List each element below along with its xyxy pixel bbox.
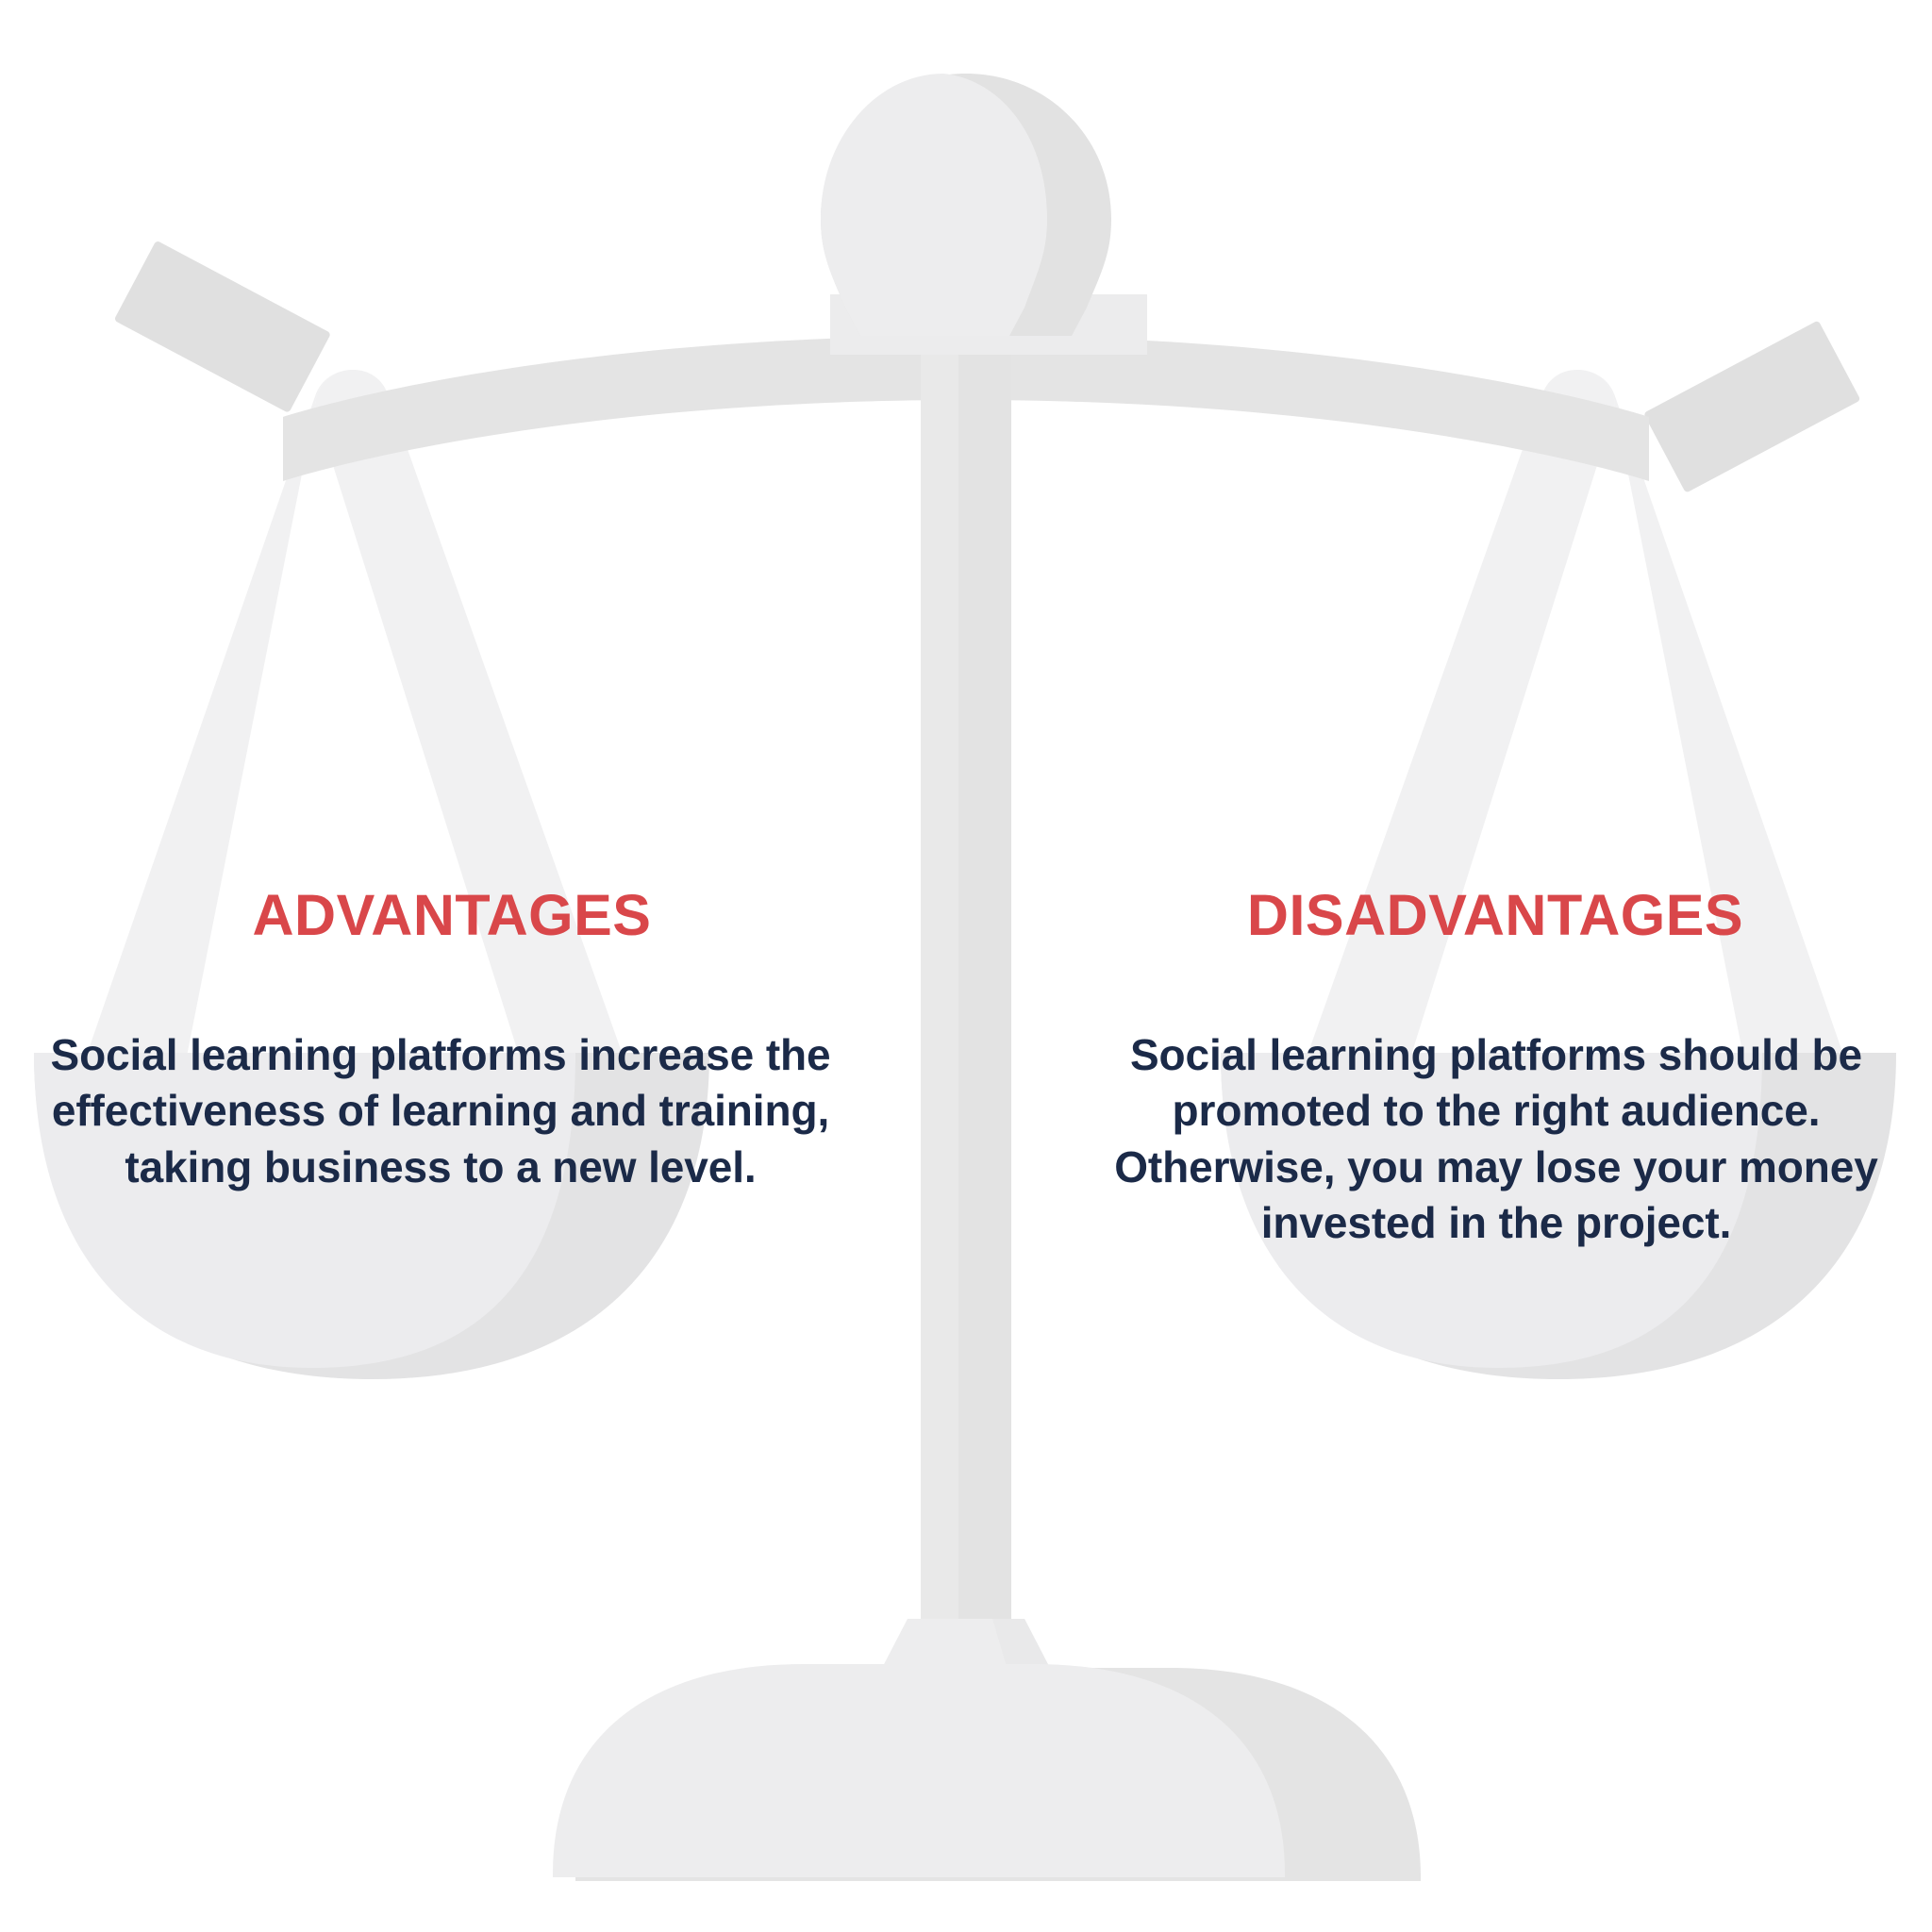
- disadvantages-body-text: Social learning platforms should be prom…: [1066, 1027, 1915, 1251]
- infographic-canvas: ADVANTAGES Social learning platforms inc…: [0, 0, 1932, 1932]
- disadvantages-panel: DISADVANTAGES Social learning platforms …: [1066, 887, 1915, 1251]
- disadvantages-heading: DISADVANTAGES: [1066, 887, 1915, 944]
- text-layer: ADVANTAGES Social learning platforms inc…: [0, 0, 1932, 1932]
- advantages-body-text: Social learning platforms increase the e…: [17, 1027, 866, 1195]
- advantages-heading: ADVANTAGES: [17, 887, 866, 944]
- advantages-panel: ADVANTAGES Social learning platforms inc…: [17, 887, 866, 1195]
